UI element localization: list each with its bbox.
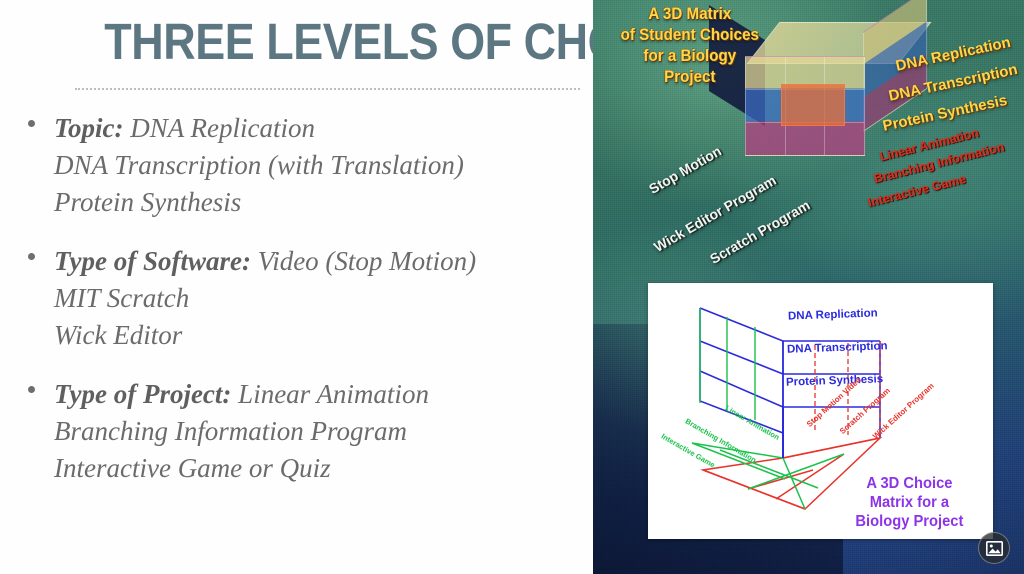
list-item: Topic: DNA Replication DNA Transcription… (10, 110, 590, 221)
image-placeholder-badge[interactable] (978, 532, 1010, 564)
image-icon (986, 541, 1003, 556)
axis-label-software: Stop Motion (646, 143, 724, 197)
matrix-heading: A 3D Matrix of Student Choices for a Bio… (607, 4, 773, 88)
bullet-lead-label: Type of Project: (54, 379, 231, 409)
matrix-heading-line: A 3D Matrix (607, 4, 773, 25)
bullet-lead-label: Type of Software: (54, 246, 251, 276)
inset-diagram: DNA Replication DNA Transcription Protei… (648, 283, 993, 539)
cube-highlight-cell (781, 84, 845, 126)
bullet-sub-line: MIT Scratch (54, 280, 590, 317)
inset-caption: A 3D Choice Matrix for a Biology Project (836, 474, 983, 531)
bullet-lead-line: Topic: DNA Replication (54, 110, 590, 147)
bullet-sub-line: DNA Transcription (with Translation) (54, 147, 590, 184)
matrix-heading-line: for a Biology (607, 46, 773, 67)
inset-caption-line: Matrix for a (836, 493, 983, 512)
bullet-lead-line: Type of Project: Linear Animation (54, 376, 590, 413)
slide-image-panel: A 3D Matrix of Student Choices for a Bio… (593, 0, 1024, 574)
bullet-lead-label: Topic: (54, 113, 124, 143)
bullet-sub-line: Wick Editor (54, 317, 590, 354)
inset-caption-line: A 3D Choice (836, 474, 983, 493)
bullet-lead-line: Type of Software: Video (Stop Motion) (54, 243, 590, 280)
bullet-dot (28, 120, 35, 127)
bullet-list: Topic: DNA Replication DNA Transcription… (10, 110, 590, 509)
bullet-lead-rest: Linear Animation (231, 379, 429, 409)
title-divider (75, 88, 580, 92)
list-item: Type of Project: Linear Animation Branch… (10, 376, 590, 487)
inset-caption-line: Biology Project (836, 512, 983, 531)
bullet-sub-line: Branching Information Program (54, 413, 590, 450)
page-title: THREE LEVELS OF CHOICE (104, 14, 548, 70)
slide: THREE LEVELS OF CHOICE Topic: DNA Replic… (0, 0, 1024, 574)
slide-text-column: THREE LEVELS OF CHOICE Topic: DNA Replic… (0, 0, 593, 574)
bullet-sub-line: Protein Synthesis (54, 184, 590, 221)
bullet-dot (28, 253, 35, 260)
bullet-lead-rest: Video (Stop Motion) (251, 246, 476, 276)
list-item: Type of Software: Video (Stop Motion) MI… (10, 243, 590, 354)
floor-grid-green (692, 443, 844, 509)
bullet-lead-rest: DNA Replication (124, 113, 315, 143)
bullet-dot (28, 386, 35, 393)
bullet-sub-line: Interactive Game or Quiz (54, 450, 590, 487)
matrix-heading-line: of Student Choices (607, 25, 773, 46)
matrix-heading-line: Project (607, 67, 773, 88)
